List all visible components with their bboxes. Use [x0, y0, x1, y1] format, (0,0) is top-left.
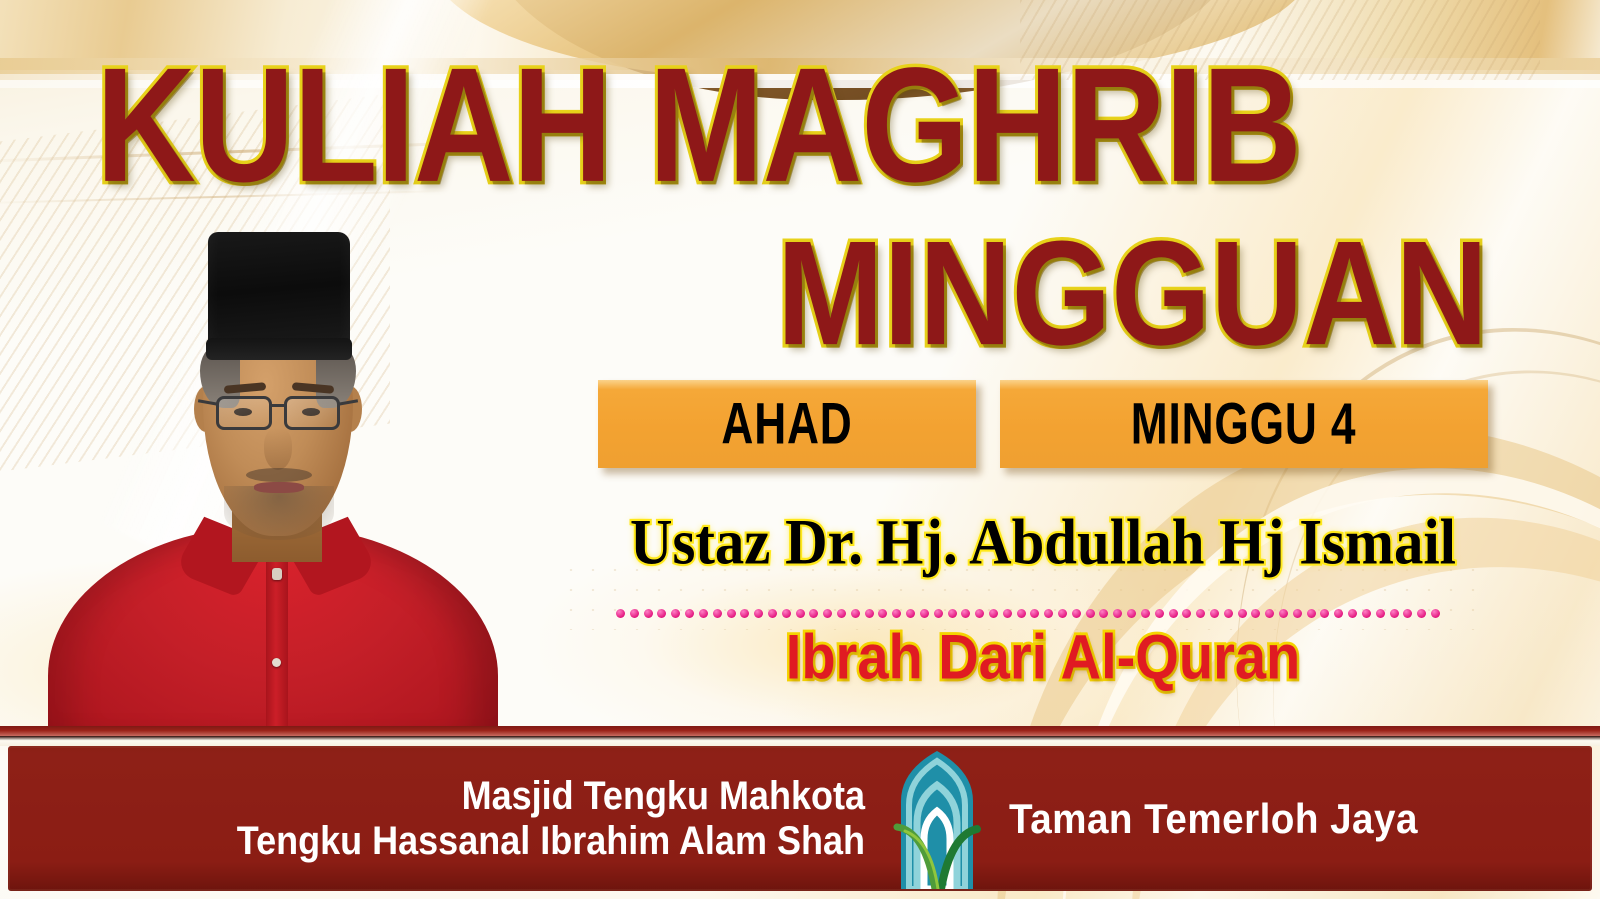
poster-canvas: KULIAH MAGHRIB MINGGUAN AHAD MINGGU 4 Us… — [0, 0, 1600, 899]
badge-row: AHAD MINGGU 4 — [598, 380, 1488, 468]
topic-title: Ibrah Dari Al-Quran — [598, 620, 1488, 693]
mosque-name: Masjid Tengku Mahkota Tengku Hassanal Ib… — [237, 774, 865, 864]
day-badge-label: AHAD — [721, 391, 852, 458]
headline-line-2: MINGGUAN — [0, 220, 1488, 368]
portrait-button-bottom — [272, 658, 281, 667]
footer-content: Masjid Tengku Mahkota Tengku Hassanal Ib… — [167, 749, 1453, 889]
portrait-nose — [264, 428, 292, 470]
branch-name: Taman Temerloh Jaya — [1009, 795, 1418, 843]
mosque-name-line-1: Masjid Tengku Mahkota — [237, 774, 865, 819]
mosque-arch-icon — [891, 749, 983, 889]
portrait-placket — [266, 534, 288, 746]
speaker-name: Ustaz Dr. Hj. Abdullah Hj Ismail — [607, 505, 1479, 580]
week-badge[interactable]: MINGGU 4 — [1000, 380, 1488, 468]
mosque-name-line-2: Tengku Hassanal Ibrahim Alam Shah — [237, 819, 865, 864]
week-badge-label: MINGGU 4 — [1131, 391, 1357, 458]
headline-line-1: KULIAH MAGHRIB — [96, 44, 1600, 207]
dotted-divider — [616, 606, 1440, 620]
footer-white-gap — [0, 736, 1600, 746]
portrait-eyeglass-bridge — [271, 404, 286, 407]
footer-bar: Masjid Tengku Mahkota Tengku Hassanal Ib… — [8, 746, 1592, 891]
portrait-moustache — [246, 468, 312, 482]
portrait-beard — [224, 486, 334, 540]
footer-top-rule — [0, 726, 1600, 736]
day-badge[interactable]: AHAD — [598, 380, 976, 468]
portrait-eyeglass-right — [284, 396, 340, 430]
portrait-button-top — [272, 568, 282, 580]
portrait-eyeglass-left — [216, 396, 272, 430]
portrait-mouth — [254, 482, 304, 493]
headline-block: KULIAH MAGHRIB MINGGUAN — [0, 44, 1600, 348]
